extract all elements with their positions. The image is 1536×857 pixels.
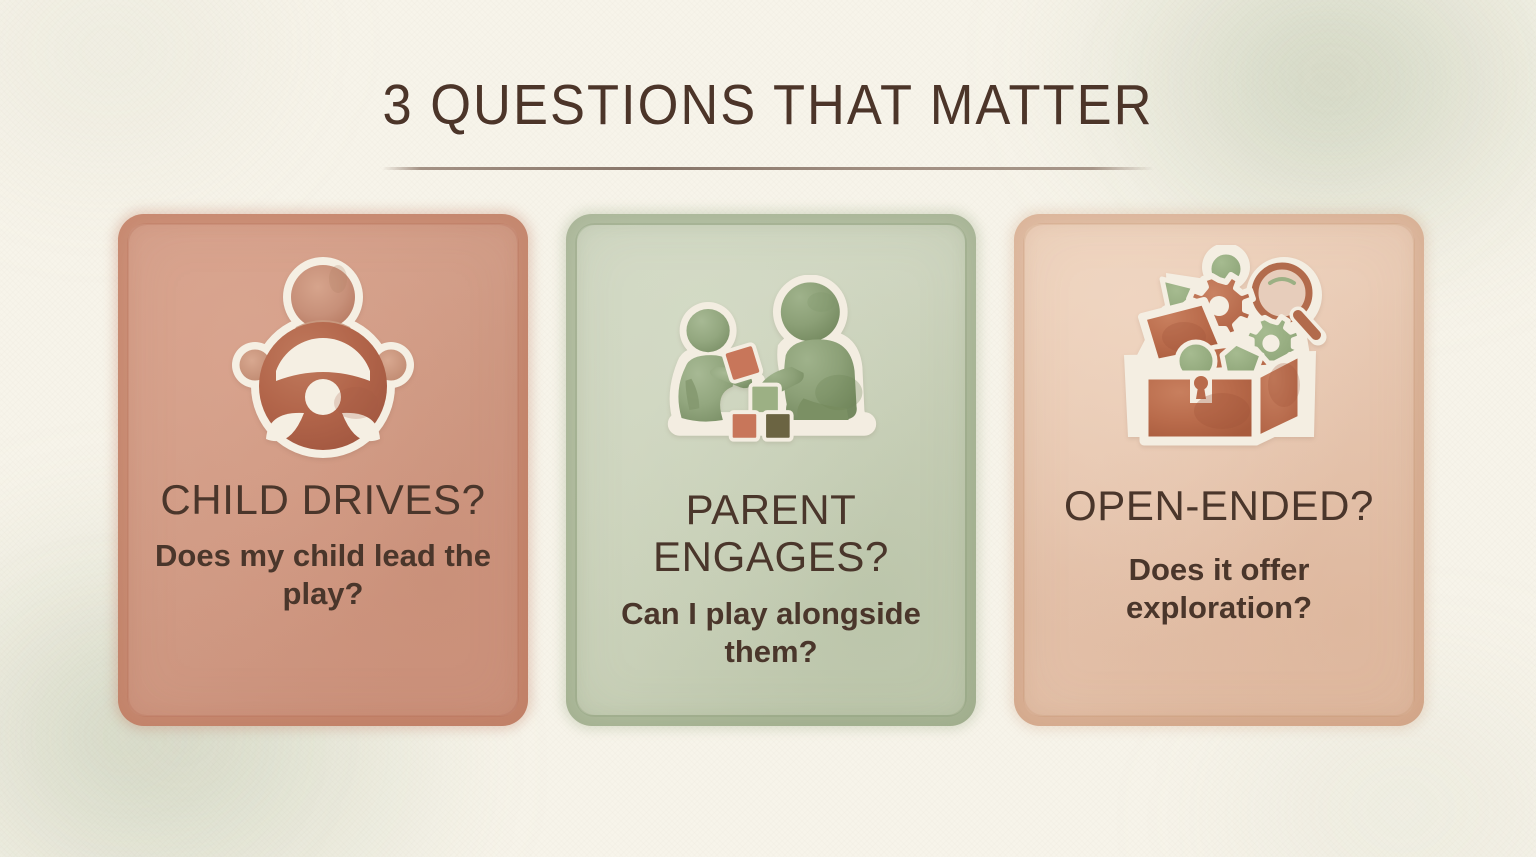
card-open-ended[interactable]: OPEN-ENDED? Does it offer exploration?: [1014, 214, 1424, 726]
card-heading: OPEN-ENDED?: [1064, 482, 1374, 529]
card-subtitle: Can I play alongside them?: [601, 595, 941, 671]
card-parent-engages[interactable]: PARENT ENGAGES? Can I play alongside the…: [566, 214, 976, 726]
treasure-chest-shapes-icon: [1104, 242, 1334, 452]
card-subtitle: Does it offer exploration?: [1049, 551, 1389, 627]
title-block: 3 QUESTIONS THAT MATTER: [0, 72, 1536, 170]
parent-child-blocks-icon: [656, 258, 886, 468]
card-heading: CHILD DRIVES?: [160, 476, 485, 523]
steering-wheel-child-icon: [208, 252, 438, 462]
cards-row: CHILD DRIVES? Does my child lead the pla…: [118, 214, 1424, 734]
title-underline-rule: [382, 167, 1154, 170]
slide-canvas: 3 QUESTIONS THAT MATTER: [0, 0, 1536, 857]
card-heading: PARENT ENGAGES?: [606, 486, 936, 581]
card-child-drives[interactable]: CHILD DRIVES? Does my child lead the pla…: [118, 214, 528, 726]
page-title: 3 QUESTIONS THAT MATTER: [61, 72, 1474, 138]
card-subtitle: Does my child lead the play?: [153, 537, 493, 613]
